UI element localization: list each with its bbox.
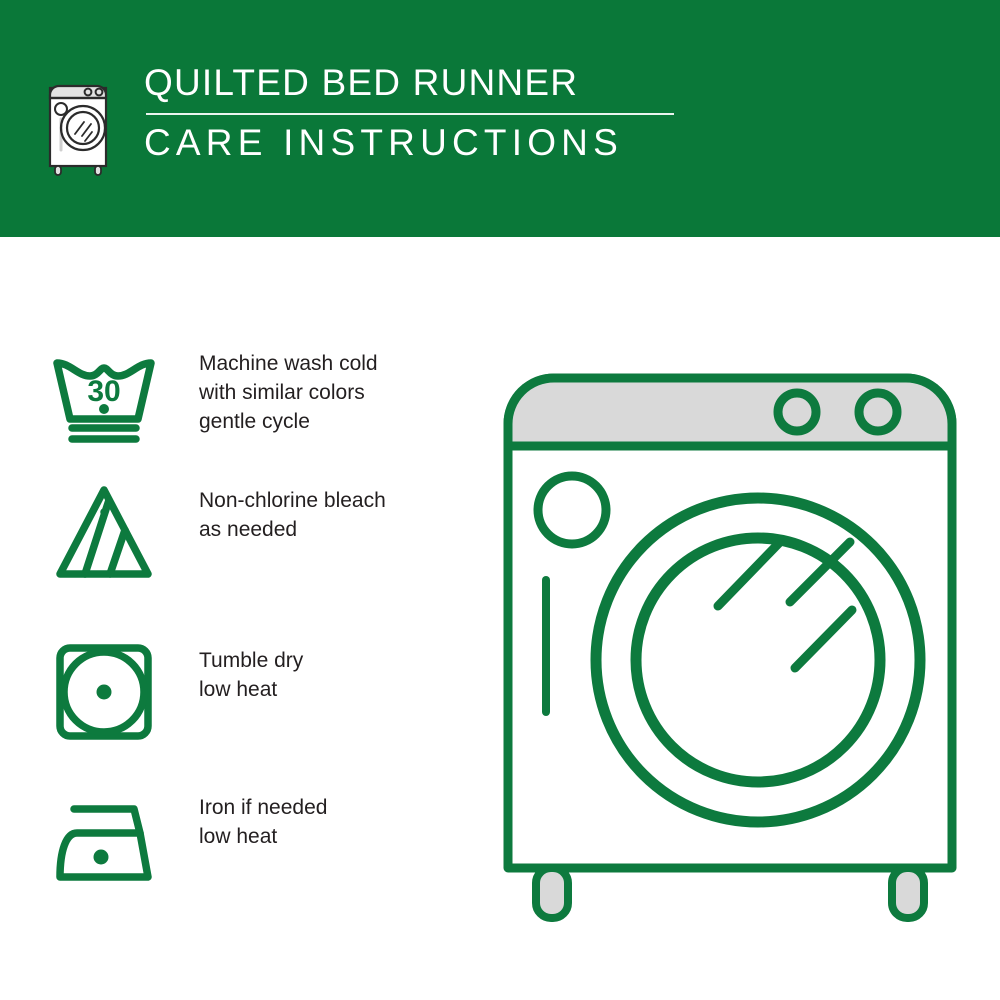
page-title: QUILTED BED RUNNER: [144, 62, 744, 104]
machine-dial: [538, 476, 606, 544]
care-instruction-text: Machine wash cold with similar colors ge…: [199, 345, 378, 436]
machine-knob: [778, 393, 816, 431]
care-instruction-row: 30 Machine wash cold with similar colors…: [52, 345, 452, 450]
care-instruction-row: Tumble dry low heat: [52, 642, 452, 747]
non-chlorine-bleach-triangle-icon: [52, 482, 152, 587]
care-instruction-text: Non-chlorine bleach as needed: [199, 482, 386, 544]
page-subtitle: CARE INSTRUCTIONS: [144, 122, 744, 164]
care-instructions-infographic: QUILTED BED RUNNER CARE INSTRUCTIONS 30: [0, 0, 1000, 1000]
header-band: QUILTED BED RUNNER CARE INSTRUCTIONS: [0, 0, 1000, 237]
washing-machine-icon: [44, 66, 112, 178]
wash-temperature-label: 30: [87, 375, 120, 408]
machine-leg: [892, 868, 924, 918]
header-text-block: QUILTED BED RUNNER CARE INSTRUCTIONS: [144, 62, 744, 164]
care-instruction-text: Tumble dry low heat: [199, 642, 303, 704]
front-load-washing-machine-illustration: [490, 330, 970, 930]
title-divider: [146, 113, 674, 115]
care-instruction-list: 30 Machine wash cold with similar colors…: [0, 237, 470, 1000]
machine-door-inner: [636, 538, 880, 782]
wash-tub-30-gentle-icon: 30: [52, 345, 152, 450]
care-instruction-text: Iron if needed low heat: [199, 789, 327, 851]
header-content: QUILTED BED RUNNER CARE INSTRUCTIONS: [44, 62, 744, 187]
machine-knob: [859, 393, 897, 431]
tumble-dry-low-heat-icon: [52, 642, 152, 747]
machine-leg: [536, 868, 568, 918]
care-instruction-row: Non-chlorine bleach as needed: [52, 482, 452, 587]
care-instruction-row: Iron if needed low heat: [52, 789, 452, 894]
iron-low-heat-icon: [52, 789, 152, 894]
